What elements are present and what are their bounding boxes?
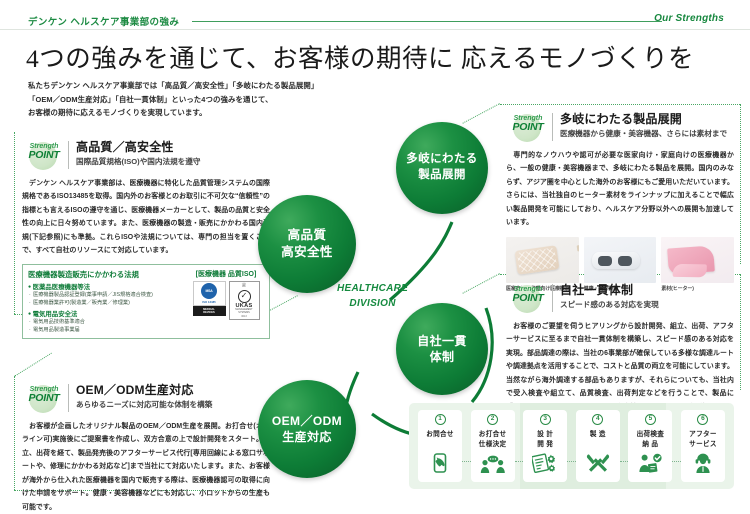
heading-divider	[68, 384, 69, 412]
panel-quality: Strength POINT 高品質／高安全性 国際品質規格(ISO)や国内法規…	[22, 140, 270, 339]
process-flow-diagram: 1 お問合せ 2 お打合せ 仕様決定	[409, 403, 734, 489]
legal-group-heading: 医薬品医療機器等法	[28, 282, 184, 291]
badge-point-label: POINT	[22, 150, 66, 161]
step-connector-dots	[567, 461, 576, 462]
legal-item: 医療機器業許可(製造業／販売業／修理業)	[28, 299, 184, 307]
step-number: 6	[697, 414, 708, 425]
panel-title: 自社一貫体制	[560, 283, 659, 299]
heading-divider	[552, 284, 553, 312]
panel-frame-line	[14, 376, 15, 490]
legal-group-heading: 電気用品安全法	[28, 309, 184, 318]
bubble-label-line-1: 自社一貫	[417, 333, 467, 349]
panel-body-products: 専門的なノウハウや認可が必要な医家向け・家庭向けの医療機器から、一般の健康・美容…	[506, 149, 734, 230]
beauty-goggles-photo	[584, 237, 657, 283]
step-label: お問合せ	[426, 430, 454, 440]
legal-list: 医療機器製造販売にかかわる法規 医薬品医療機器等法 医療機器製品認証登録(薬事申…	[28, 269, 184, 334]
strength-point-badge: Strength POINT	[506, 112, 550, 142]
step-label: 出荷検査 納 品	[637, 430, 665, 449]
step-label-line-2: 開 発	[537, 440, 553, 450]
inspector-check-icon	[637, 453, 663, 478]
header-rule	[192, 21, 662, 22]
strength-bubble-quality: 高品質 高安全性	[258, 195, 356, 293]
bubble-label-line-2: 生産対応	[272, 429, 342, 445]
header-english-label: Our Strengths	[654, 13, 724, 24]
bubble-label-line-2: 体制	[417, 349, 467, 365]
step-label-line-1: アフター	[689, 430, 717, 440]
process-step-1: 1 お問合せ	[418, 410, 462, 482]
legal-item: 医療機器製品認証登録(薬事申請／JIS規格適合検査)	[28, 291, 184, 299]
panel-frame-line	[14, 353, 52, 377]
pad-shape	[515, 245, 560, 275]
panel-products: Strength POINT 多岐にわたる製品展開 医療機器から健康・美容機器、…	[506, 112, 734, 292]
healthcare-label-line-1: HEALTHCARE	[337, 281, 408, 296]
legal-regulations-box: 医療機器製造販売にかかわる法規 医薬品医療機器等法 医療機器製品認証登録(薬事申…	[22, 264, 270, 339]
panel-subtitle: あらゆるニーズに対応可能な体制を構築	[76, 400, 212, 411]
legal-box-title: 医療機器製造販売にかかわる法規	[28, 269, 184, 280]
strength-point-badge: Strength POINT	[22, 140, 66, 170]
brochure-page: デンケン ヘルスケア事業部の強み Our Strengths 4つの強みを通じて…	[0, 0, 750, 502]
heading-divider	[68, 141, 69, 169]
step-label: アフター サービス	[689, 430, 717, 449]
devices-label: DEVICES	[193, 311, 226, 314]
bubble-label-line-2: 高安全性	[281, 244, 333, 261]
step-number: 2	[487, 414, 498, 425]
bubble-label-line-1: 高品質	[281, 227, 333, 244]
step-connector-dots	[462, 461, 471, 462]
panel-title: 高品質／高安全性	[76, 140, 200, 156]
healthcare-label-line-2: DIVISION	[337, 296, 408, 311]
goggles-shape	[592, 252, 640, 269]
step-number: 5	[645, 414, 656, 425]
step-label: お打合せ 仕様決定	[479, 430, 507, 449]
panel-body-inhouse: お客様のご要望を伺うヒアリングから設計開発、組立、出荷、アフターサービスに至るま…	[506, 320, 734, 414]
bubble-label-line-2: 製品展開	[406, 168, 477, 184]
strength-bubble-oem: OEM／ODM 生産対応	[258, 380, 356, 478]
process-step-2: 2 お打合せ 仕様決定	[471, 410, 515, 482]
strength-point-badge: Strength POINT	[22, 383, 66, 413]
strength-bubble-inhouse: 自社一貫 体制	[396, 303, 488, 395]
panel-frame-line	[500, 104, 740, 105]
header-eyebrow: デンケン ヘルスケア事業部の強み	[28, 14, 179, 28]
step-label: 製 造	[590, 430, 606, 440]
panel-heading-oem: Strength POINT OEM／ODM生産対応 あらゆるニーズに対応可能な…	[22, 383, 270, 413]
process-step-3: 3 設 計 開 発	[523, 410, 567, 482]
heater-sheet-photo	[661, 237, 734, 283]
intro-line-1: 私たちデンケン ヘルスケア事業部では「高品質／高安全性」「多岐にわたる製品展開」	[28, 79, 318, 93]
step-label-line-2: 仕様決定	[479, 440, 507, 450]
panel-frame-line	[14, 132, 15, 314]
bubble-label-line-1: 多岐にわたる	[406, 152, 477, 168]
healthcare-division-label: HEALTHCARE DIVISION	[337, 281, 408, 311]
step-label-line-1: お打合せ	[479, 430, 507, 440]
sheet-shape	[667, 245, 715, 274]
step-label: 設 計 開 発	[537, 430, 553, 449]
intro-line-2: 「OEM／ODM生産対応」「自社一貫体制」といった4つの強みを通じて、	[28, 93, 318, 107]
panel-inhouse: Strength POINT 自社一貫体制 スピード感のある対応を実現 お客様の…	[506, 283, 734, 414]
two-people-talking-icon	[480, 455, 506, 478]
panel-subtitle: 医療機器から健康・美容機器、さらには素材まで	[560, 129, 727, 140]
step-label-line-1: お問合せ	[426, 430, 454, 440]
goggle-eye-left	[598, 256, 612, 266]
panel-title: OEM／ODM生産対応	[76, 383, 212, 399]
panel-subtitle: 国際品質規格(ISO)や国内法規を遵守	[76, 157, 200, 168]
goggle-eye-right	[618, 256, 632, 266]
process-steps: 1 お問合せ 2 お打合せ 仕様決定	[409, 403, 734, 489]
step-connector-dots	[672, 461, 681, 462]
page-title: 4つの強みを通じて、お客様の期待に 応えるモノづくりを	[26, 38, 694, 75]
step-label-line-1: 設 計	[537, 430, 553, 440]
step-number: 1	[435, 414, 446, 425]
iso-13485-certification-logo: MSA ISO 13485 MEDICAL DEVICES	[193, 281, 226, 320]
legal-item: 電気用品製造事業届	[28, 326, 184, 334]
panel-oem-odm: Strength POINT OEM／ODM生産対応 あらゆるニーズに対応可能な…	[22, 383, 270, 514]
process-step-5: 5 出荷検査 納 品	[628, 410, 672, 482]
badge-point-label: POINT	[506, 122, 550, 133]
panel-subtitle: スピード感のある対応を実現	[560, 300, 659, 311]
strength-bubble-products: 多岐にわたる 製品展開	[396, 122, 488, 214]
strength-point-badge: Strength POINT	[506, 283, 550, 313]
process-step-4: 4 製 造	[576, 410, 620, 482]
wrench-screwdriver-icon	[586, 453, 610, 478]
headset-operator-icon	[694, 453, 712, 478]
heading-divider	[552, 113, 553, 141]
legal-item: 電気用品技術基準適合	[28, 318, 184, 326]
panel-heading-inhouse: Strength POINT 自社一貫体制 スピード感のある対応を実現	[506, 283, 734, 313]
step-label-line-1: 出荷検査	[637, 430, 665, 440]
heating-pad-photo	[506, 237, 579, 283]
badge-point-label: POINT	[22, 393, 66, 404]
smartphone-icon	[432, 453, 448, 478]
iso-number-label: ISO 13485	[202, 300, 215, 304]
step-label-line-2: サービス	[689, 440, 717, 450]
msa-disc-icon: MSA	[201, 283, 217, 299]
step-number: 4	[592, 414, 603, 425]
pad-connector-shape	[576, 244, 578, 251]
panel-body-oem: お客様が企画したオリジナル製品のOEM／ODM生産を展開。お打合せ(オンライン可…	[22, 420, 270, 514]
panel-heading-products: Strength POINT 多岐にわたる製品展開 医療機器から健康・美容機器、…	[506, 112, 734, 142]
step-label-line-2: 納 品	[637, 440, 665, 450]
blueprint-gear-icon	[532, 453, 558, 478]
badge-point-label: POINT	[506, 293, 550, 304]
panel-heading-quality: Strength POINT 高品質／高安全性 国際品質規格(ISO)や国内法規…	[22, 140, 270, 170]
panel-frame-line	[740, 104, 741, 264]
process-step-6: 6 アフター サービス	[681, 410, 725, 482]
step-number: 3	[540, 414, 551, 425]
step-label-line-1: 製 造	[590, 430, 606, 440]
step-connector-dots	[515, 461, 524, 462]
panel-title: 多岐にわたる製品展開	[560, 112, 727, 128]
panel-frame-line	[740, 274, 741, 390]
step-connector-dots	[620, 461, 629, 462]
bubble-label-line-1: OEM／ODM	[272, 413, 342, 429]
header-divider	[0, 29, 750, 30]
panel-body-quality: デンケン ヘルスケア事業部は、医療機器に特化した品質管理システムの国際規格である…	[22, 177, 270, 258]
